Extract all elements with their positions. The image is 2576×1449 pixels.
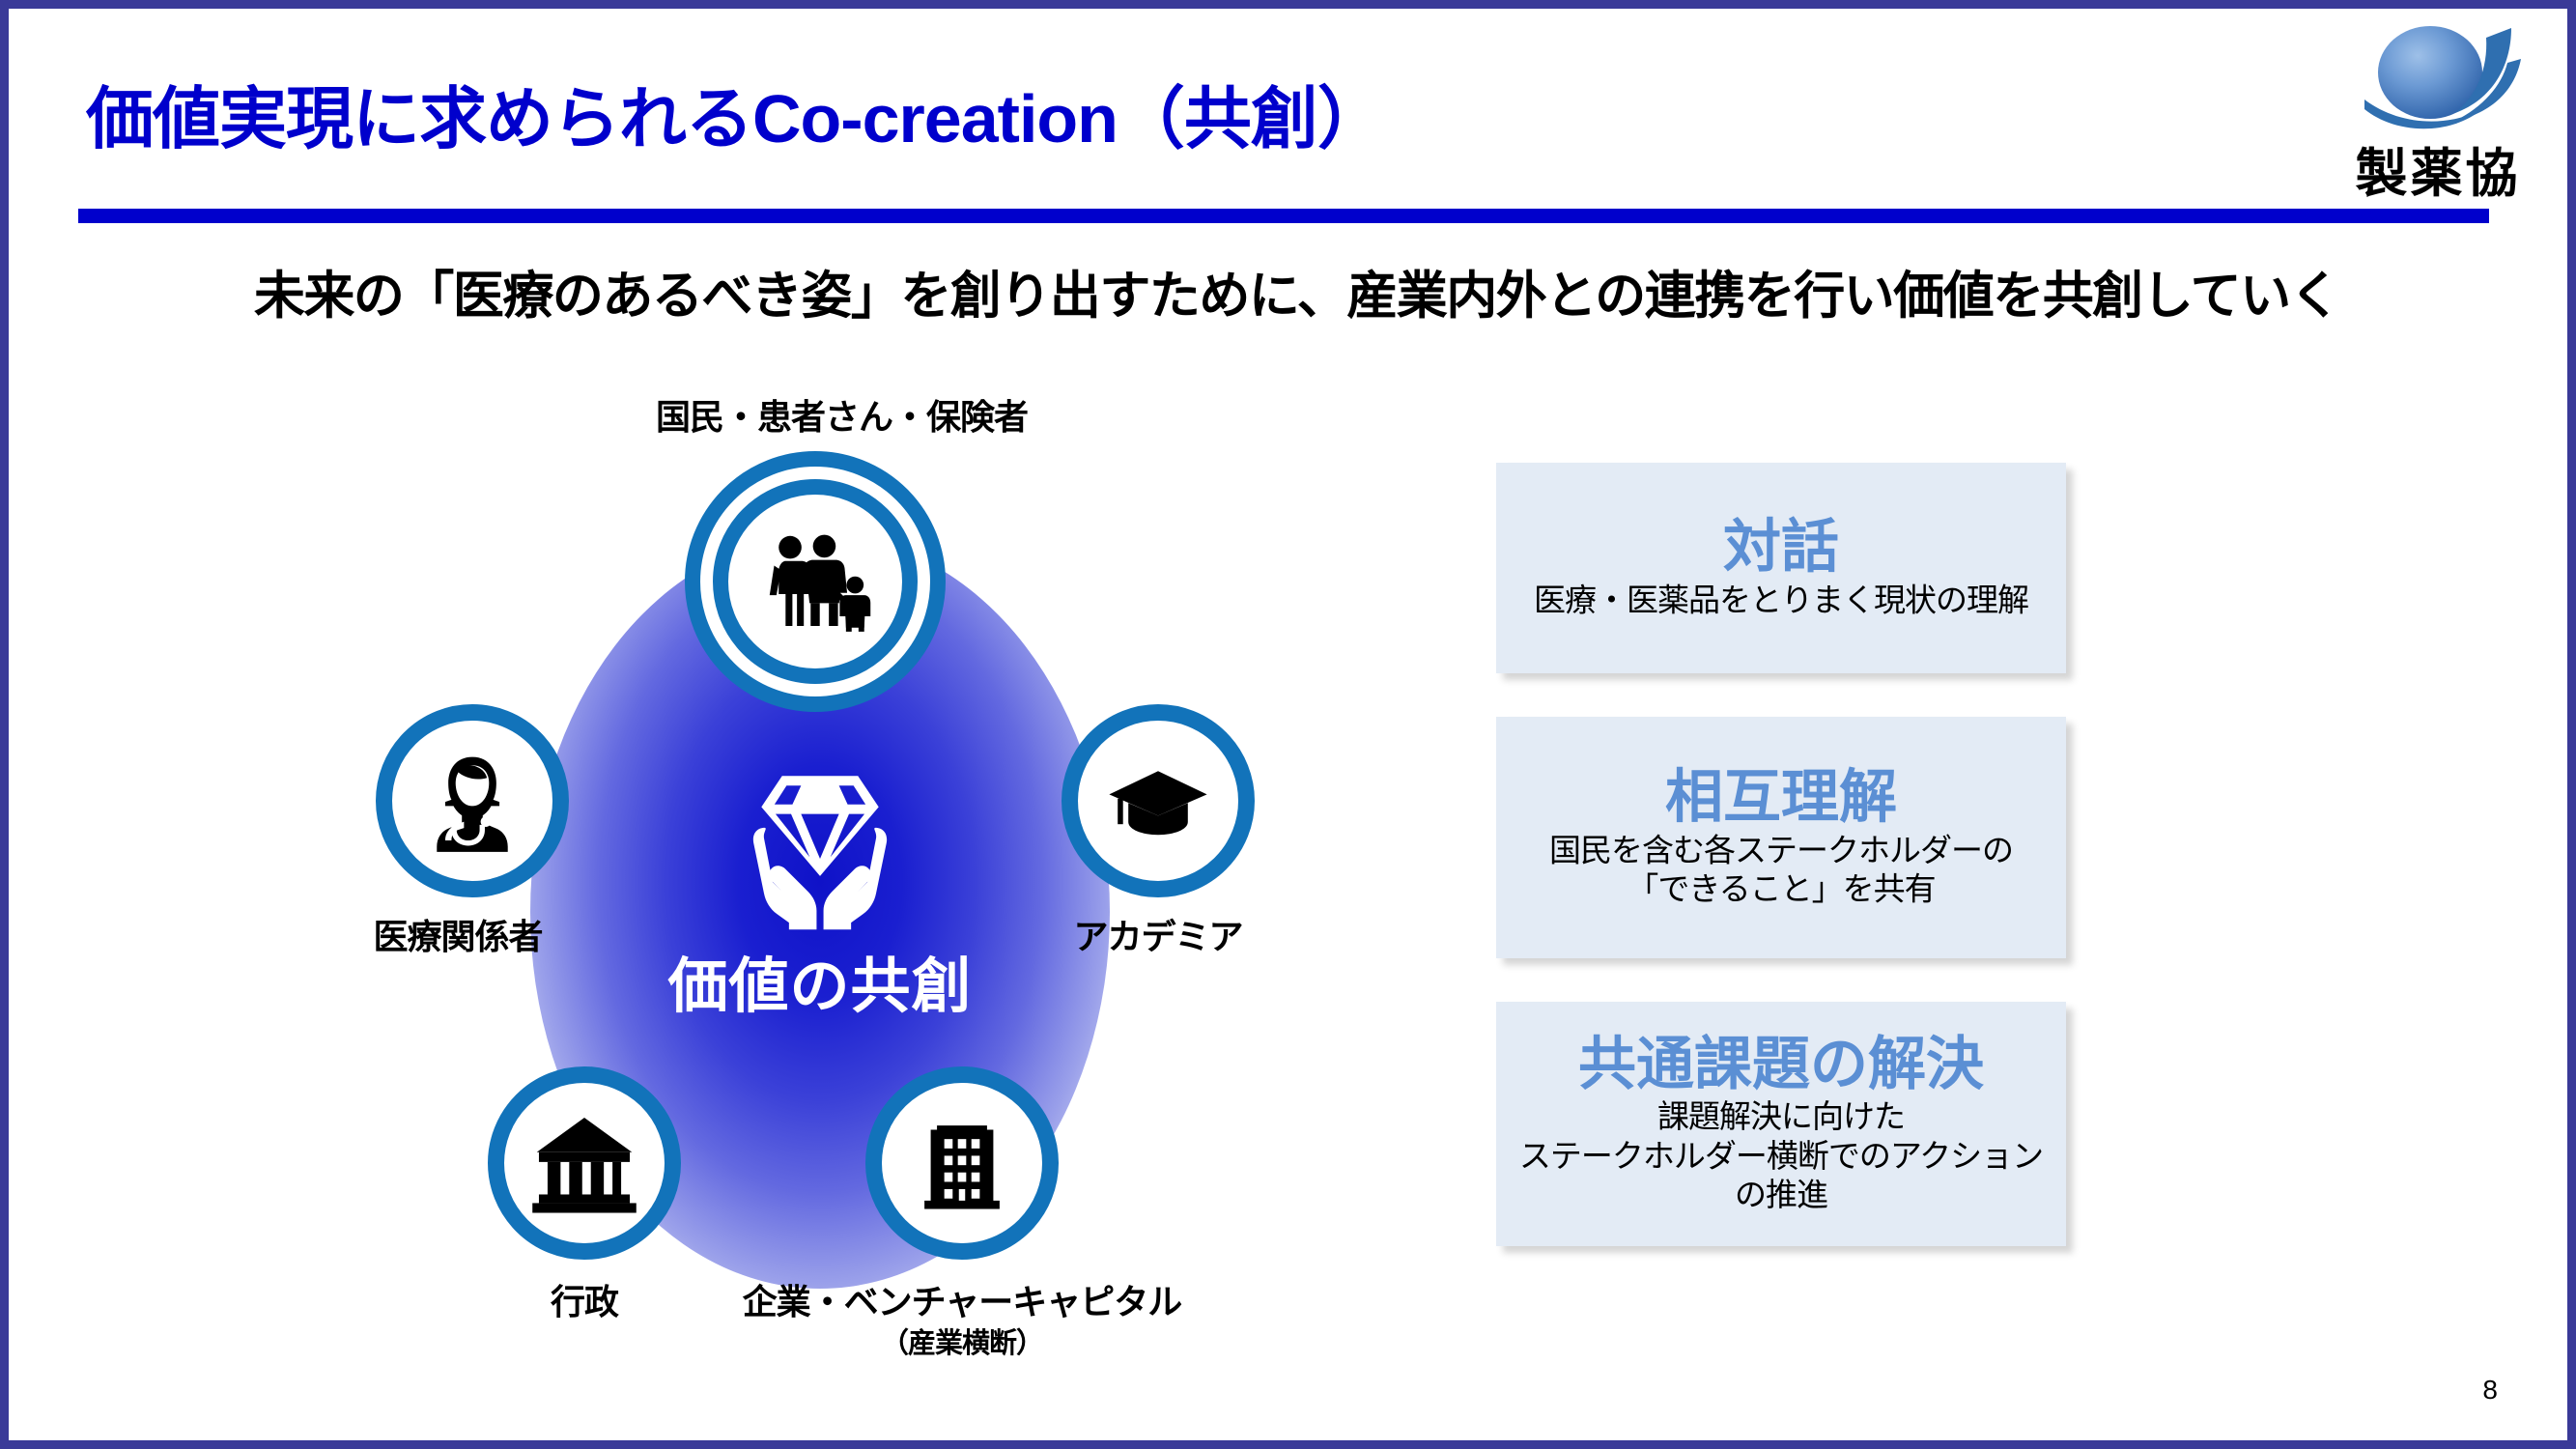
- hands-holding-gem-icon: [733, 762, 907, 931]
- slide-canvas: 価値実現に求められるCo-creation（共創） 製薬協 未来の「医療のあるべ…: [0, 0, 2576, 1449]
- diagram-node-academia[interactable]: [1062, 704, 1255, 897]
- panel-body-line: 「できること」を共有: [1510, 869, 2052, 908]
- diagram-center: 価値の共創: [530, 762, 1110, 1024]
- panel-common-issue-resolution[interactable]: 共通課題の解決 課題解決に向けた ステークホルダー横断でのアクションの推進: [1496, 1002, 2066, 1246]
- slide-subtitle: 未来の「医療のあるべき姿」を創り出すために、産業内外との連携を行い価値を共創して…: [9, 255, 2576, 328]
- logo-text: 製薬協: [2322, 130, 2554, 207]
- panel-title: 相互理解: [1510, 766, 2052, 829]
- diagram-node-label-gov: 行政: [488, 1274, 681, 1324]
- title-underline-rule: [78, 209, 2489, 223]
- diagram-node-medical[interactable]: [376, 704, 569, 897]
- co-creation-diagram: 価値の共創: [298, 376, 1380, 1400]
- diagram-node-label-company: 企業・ベンチャーキャピタル: [730, 1274, 1194, 1324]
- panel-content: 相互理解 国民を含む各ステークホルダーの 「できること」を共有: [1510, 766, 2052, 908]
- page-title: 価値実現に求められるCo-creation（共創）: [86, 65, 1384, 162]
- diagram-node-label-academia: アカデミア: [1052, 909, 1264, 959]
- panel-content: 対話 医療・医薬品をとりまく現状の理解: [1510, 516, 2052, 619]
- panel-body-line: 課題解決に向けた: [1510, 1098, 2052, 1137]
- panel-body: 医療・医薬品をとりまく現状の理解: [1510, 581, 2052, 619]
- panel-content: 共通課題の解決 課題解決に向けた ステークホルダー横断でのアクションの推進: [1510, 1034, 2052, 1215]
- diagram-node-sublabel-company: （産業横断）: [730, 1321, 1194, 1361]
- doctor-icon: [420, 749, 524, 853]
- jpma-logo: 製薬協: [2322, 16, 2554, 200]
- panel-body-line: 医療・医薬品をとりまく現状の理解: [1510, 581, 2052, 619]
- graduation-cap-icon: [1105, 748, 1211, 854]
- panel-title: 対話: [1510, 516, 2052, 579]
- node-inner-ring: [713, 479, 918, 684]
- blue-sphere-swoosh-icon: [2322, 16, 2554, 142]
- government-building-icon: [530, 1109, 638, 1217]
- diagram-node-gov[interactable]: [488, 1066, 681, 1260]
- diagram-node-company[interactable]: [865, 1066, 1059, 1260]
- panel-body-line: 国民を含む各ステークホルダーの: [1510, 831, 2052, 869]
- cocreation-steps-panel-list: 対話 医療・医薬品をとりまく現状の理解 相互理解 国民を含む各ステークホルダーの…: [1496, 463, 2066, 1290]
- page-number: 8: [2482, 1375, 2498, 1406]
- panel-dialogue[interactable]: 対話 医療・医薬品をとりまく現状の理解: [1496, 463, 2066, 673]
- office-building-icon: [910, 1111, 1014, 1215]
- panel-mutual-understanding[interactable]: 相互理解 国民を含む各ステークホルダーの 「できること」を共有: [1496, 717, 2066, 958]
- diagram-node-label-citizens: 国民・患者さん・保険者: [656, 389, 975, 440]
- diagram-node-label-medical: 医療関係者: [269, 909, 646, 959]
- panel-title: 共通課題の解決: [1510, 1034, 2052, 1096]
- diagram-node-citizens[interactable]: [685, 451, 946, 712]
- panel-body: 課題解決に向けた ステークホルダー横断でのアクションの推進: [1510, 1098, 2052, 1215]
- panel-body-line: ステークホルダー横断でのアクションの推進: [1510, 1137, 2052, 1215]
- panel-body: 国民を含む各ステークホルダーの 「できること」を共有: [1510, 831, 2052, 909]
- family-icon: [758, 525, 872, 639]
